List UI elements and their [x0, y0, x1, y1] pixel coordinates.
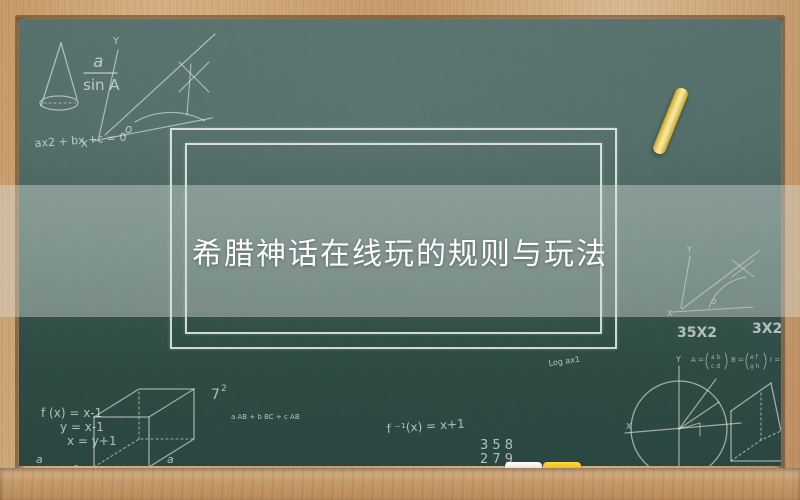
- page-title: 希腊神话在线玩的规则与玩法: [192, 229, 608, 273]
- chalk-multiply-3x2: 3X2: [752, 321, 781, 337]
- svg-text:a: a: [93, 52, 103, 72]
- chalk-cube-right: [731, 383, 781, 461]
- svg-text:e f: e f: [750, 354, 759, 361]
- svg-text:Y: Y: [112, 36, 120, 47]
- chalk-eight-exponent: 2: [74, 464, 79, 466]
- svg-text:I =: I =: [770, 356, 780, 364]
- svg-text:a b: a b: [711, 354, 721, 361]
- svg-text:sin A: sin A: [83, 76, 120, 94]
- chalk-function-equations: f (x) = x-1 y = x-1 x = y+1: [41, 406, 117, 448]
- svg-text:a: a: [36, 453, 43, 466]
- svg-text:3 5 8: 3 5 8: [480, 438, 513, 453]
- chalk-circle-diagram: Y X: [625, 355, 741, 466]
- chalk-fraction-a-sin-a-center: a sin A: [159, 453, 186, 466]
- svg-text:B =: B =: [731, 356, 744, 364]
- svg-text:o: o: [125, 122, 132, 136]
- svg-text:x = y+1: x = y+1: [67, 434, 117, 448]
- chalk-fraction-a-sin-a-topleft: a sin A: [83, 52, 120, 94]
- svg-text:g h: g h: [750, 363, 760, 370]
- svg-text:a: a: [167, 453, 174, 466]
- chalkboard-card: a sin A ax2 + bx +c = 0 Y X: [0, 0, 800, 500]
- svg-text:Y: Y: [675, 355, 681, 364]
- chalk-cube-center: [94, 389, 194, 466]
- chalk-inline-expression: a AB + b BC + c AB: [231, 413, 300, 421]
- chalk-multiply-35x2: 35X2: [677, 325, 717, 341]
- svg-text:f (x) = x-1: f (x) = x-1: [41, 406, 102, 420]
- chalk-ledge: [0, 468, 800, 500]
- chalk-inverse-function: f ⁻¹(x) = x+1: [386, 417, 465, 436]
- chalk-seven-base: 7: [211, 387, 220, 403]
- svg-text:y = x-1: y = x-1: [60, 420, 104, 434]
- svg-text:X: X: [81, 139, 88, 150]
- svg-text:c d: c d: [711, 363, 720, 370]
- chalk-matrix-row: A = a b c d B = e f g h I =: [691, 353, 780, 370]
- chalk-fraction-a-sin-a-bottomleft: a sin A: [28, 453, 55, 466]
- title-overlay-band: 希腊神话在线玩的规则与玩法: [0, 185, 800, 317]
- svg-text:X: X: [626, 422, 632, 431]
- chalk-log-label-right: Log ax1: [548, 355, 581, 368]
- chalk-cone-drawing: [40, 43, 78, 110]
- chalk-seven-exponent: 2: [221, 384, 227, 394]
- svg-text:A =: A =: [691, 356, 704, 364]
